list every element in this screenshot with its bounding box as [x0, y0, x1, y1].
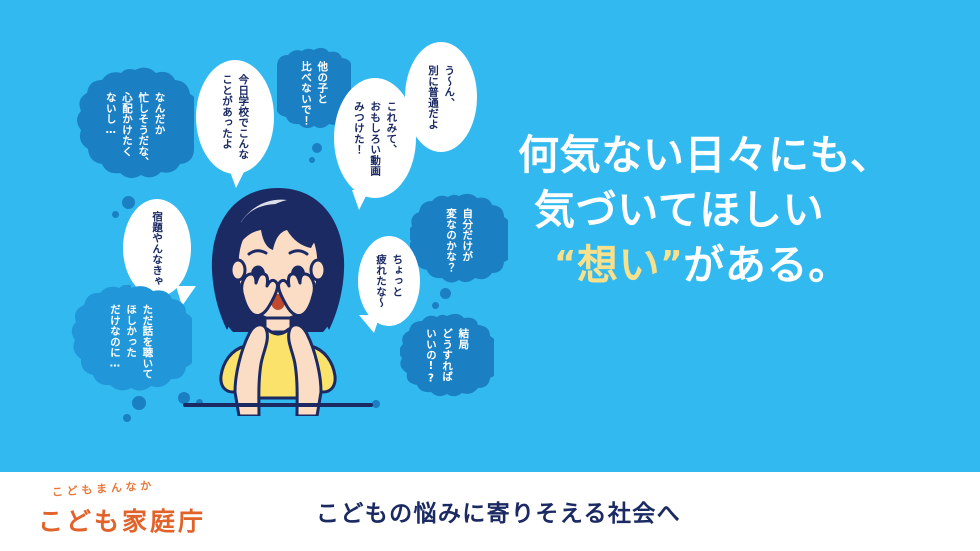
logo-name: こども家庭庁 [38, 502, 238, 538]
thought-dot [122, 196, 135, 209]
speech-bubble-school: 今日学校でこんな ことがあったよ [196, 60, 274, 174]
speech-bubble-normal-text: う～ん、 別に普通だよ [425, 65, 458, 129]
headline-accent-word: 想い [577, 241, 660, 289]
footer-tagline: こどもの悩みに寄りそえる社会へ [316, 494, 681, 528]
speech-bubble-video-text: これみて、 おもしろい動画 みつけた！ [351, 101, 400, 176]
quote-close: ” [660, 243, 683, 283]
thought-dot [440, 288, 451, 299]
footer-bar: こどもまんなか こども家庭庁 こどもの悩みに寄りそえる社会へ こども家庭庁 悩み [0, 472, 980, 551]
thought-dot [123, 414, 131, 422]
thought-bubble-strange: 自分だけが 変なのかな？ [410, 193, 508, 287]
speech-bubble-homework: 宿題やんなきゃ [123, 199, 191, 297]
thought-bubble-strange-text: 自分だけが 変なのかな？ [443, 208, 476, 272]
thought-bubble-busy: なんだか 忙しそうだな、 心配かけたく ないし… [76, 66, 194, 192]
thought-bubble-listen-text: ただ話を聴いて ほしかった だけなのに… [107, 304, 156, 379]
speech-bubble-homework-text: 宿題やんなきゃ [149, 211, 165, 286]
thought-bubble-compare-text: 他の子と 比べないで！ [298, 61, 331, 125]
thought-bubble-whatdo: 結局 どうすれば いいの!? [400, 313, 494, 399]
headline-line-1: 何気ない日々にも、 [516, 128, 946, 183]
speech-tail [228, 166, 247, 188]
thought-dot [132, 396, 146, 410]
thought-dot [432, 302, 439, 309]
speech-bubble-school-text: 今日学校でこんな ことがあったよ [219, 74, 252, 160]
poster-root: 何気ない日々にも、 気づいてほしい “想い”がある。 なんだか 忙しそうだな、 … [0, 0, 980, 551]
decorative-dot [372, 400, 380, 408]
thought-bubble-whatdo-text: 結局 どうすれば いいの!? [423, 328, 472, 385]
main-visual-panel: 何気ない日々にも、 気づいてほしい “想い”がある。 なんだか 忙しそうだな、 … [0, 0, 980, 472]
agency-logo: こどもまんなか こども家庭庁 [38, 484, 238, 538]
headline-line-2: 気づいてほしい [516, 183, 946, 238]
quote-open: “ [554, 243, 577, 283]
headline-line-3: “想い”がある。 [516, 238, 946, 293]
headline-line-3-tail: がある。 [683, 241, 850, 289]
girl-illustration [183, 186, 373, 420]
page-title: 何気ない日々にも、 気づいてほしい “想い”がある。 [516, 128, 946, 293]
thought-dot [309, 157, 315, 163]
thought-bubble-busy-text: なんだか 忙しそうだな、 心配かけたく ないし… [102, 92, 167, 167]
thought-dot [312, 143, 322, 153]
speech-bubble-tired-text: ちょっと 疲れたな～ [373, 254, 406, 308]
thought-dot [112, 211, 119, 218]
thought-bubble-listen: ただ話を聴いて ほしかった だけなのに… [70, 285, 192, 397]
speech-bubble-video: これみて、 おもしろい動画 みつけた！ [334, 78, 416, 198]
logo-tagline: こどもまんなか [51, 471, 238, 500]
